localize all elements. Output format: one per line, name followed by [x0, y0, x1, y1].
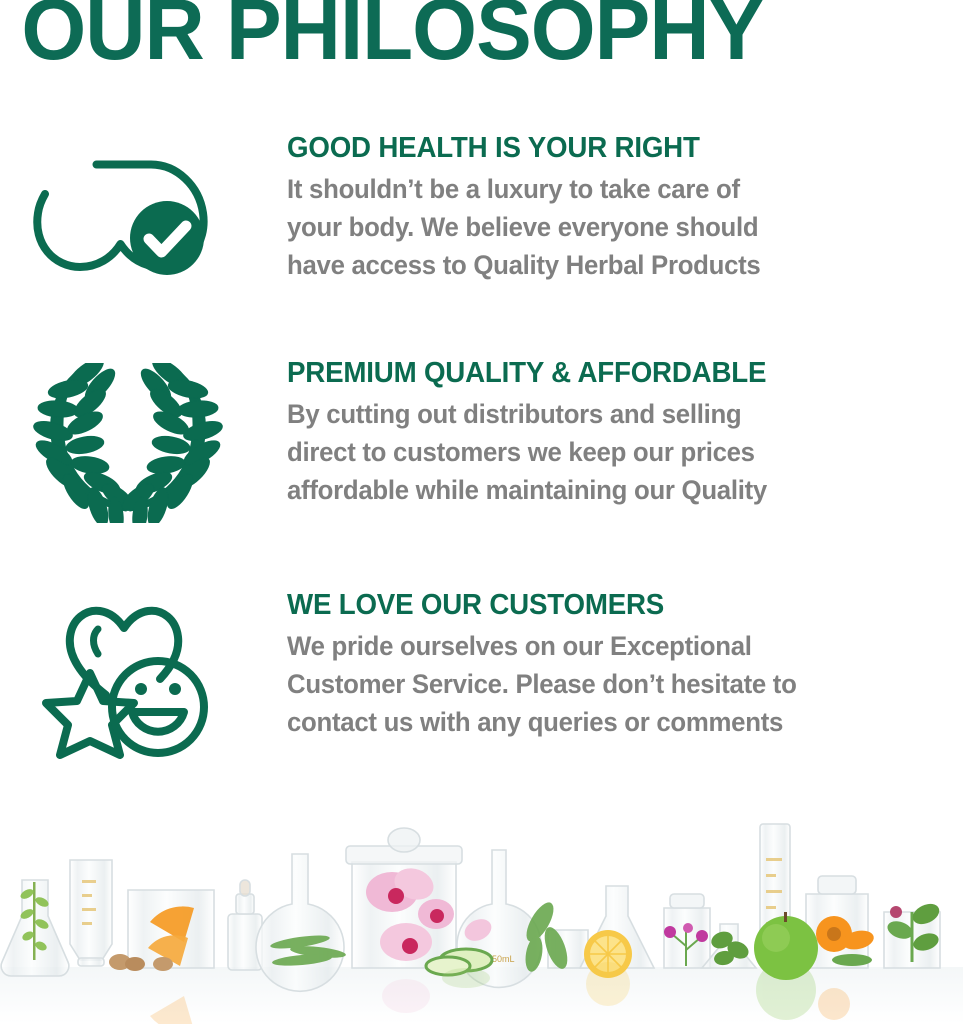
body-line: We pride ourselves on our Exceptional — [287, 627, 913, 665]
philosophy-item-good-health: GOOD HEALTH IS YOUR RIGHT It shouldn’t b… — [0, 132, 963, 284]
philosophy-body: It shouldn’t be a luxury to take care of… — [287, 170, 913, 284]
philosophy-item-premium-quality: PREMIUM QUALITY & AFFORDABLE By cutting … — [0, 357, 963, 523]
body-line: contact us with any queries or comments — [287, 703, 913, 741]
body-line: affordable while maintaining our Quality — [287, 471, 913, 509]
laurel-wreath-icon — [28, 363, 228, 523]
smiley-eye-right — [169, 683, 181, 695]
philosophy-heading: WE LOVE OUR CUSTOMERS — [287, 589, 913, 621]
philosophy-item-text: GOOD HEALTH IS YOUR RIGHT It shouldn’t b… — [287, 132, 963, 284]
our-philosophy-panel: OUR PHILOSOPHY GOOD HEALTH IS YOUR RIGHT… — [0, 0, 963, 1024]
body-line: It shouldn’t be a luxury to take care of — [287, 170, 913, 208]
philosophy-item-we-love-customers: WE LOVE OUR CUSTOMERS We pride ourselves… — [0, 589, 963, 761]
heart-check-icon-cell — [0, 132, 287, 282]
philosophy-item-text: PREMIUM QUALITY & AFFORDABLE By cutting … — [287, 357, 963, 509]
philosophy-item-text: WE LOVE OUR CUSTOMERS We pride ourselves… — [287, 589, 963, 741]
philosophy-body: We pride ourselves on our Exceptional Cu… — [287, 627, 913, 741]
heart-star-smiley-icon — [28, 591, 228, 761]
body-line: direct to customers we keep our prices — [287, 433, 913, 471]
body-line: your body. We believe everyone should — [287, 208, 913, 246]
smiley-eye-left — [135, 683, 147, 695]
body-line: By cutting out distributors and selling — [287, 395, 913, 433]
philosophy-heading: GOOD HEALTH IS YOUR RIGHT — [287, 132, 913, 164]
page-title-container: OUR PHILOSOPHY — [0, 0, 963, 84]
smiley-mouth — [132, 712, 184, 732]
page-title: OUR PHILOSOPHY — [0, 0, 934, 76]
laurel-leaf-group-right — [118, 363, 224, 523]
philosophy-body: By cutting out distributors and selling … — [287, 395, 913, 509]
heart-highlight — [94, 629, 99, 654]
check-badge-circle — [130, 201, 204, 275]
laurel-wreath-icon-cell — [0, 357, 287, 523]
heart-check-icon — [28, 142, 228, 282]
body-line: Customer Service. Please don’t hesitate … — [287, 665, 913, 703]
philosophy-heading: PREMIUM QUALITY & AFFORDABLE — [287, 357, 913, 389]
body-line: have access to Quality Herbal Products — [287, 246, 913, 284]
philosophy-list: GOOD HEALTH IS YOUR RIGHT It shouldn’t b… — [0, 132, 963, 761]
heart-star-smiley-icon-cell — [0, 589, 287, 761]
laurel-leaf-group-left — [32, 363, 138, 523]
laboratory-glassware-botanicals-photo: 250mL — [0, 762, 963, 1024]
